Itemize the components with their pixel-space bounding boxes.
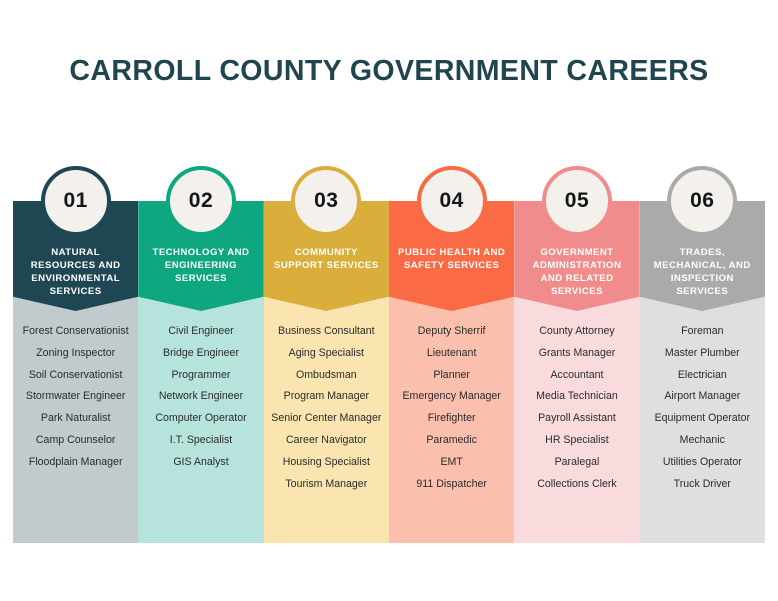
job-item: Electrician — [644, 365, 761, 387]
job-item: Senior Center Manager — [268, 408, 385, 430]
job-list-01: Forest ConservationistZoning InspectorSo… — [13, 321, 138, 474]
job-item: Planner — [393, 365, 510, 387]
step-number-05: 05 — [565, 189, 589, 213]
job-item: Master Plumber — [644, 343, 761, 365]
column-title-05: GOVERNMENT ADMINISTRATION AND RELATED SE… — [521, 246, 634, 298]
job-item: County Attorney — [518, 321, 635, 343]
job-item: Deputy Sherrif — [393, 321, 510, 343]
job-item: Firefighter — [393, 408, 510, 430]
job-item: Utilities Operator — [644, 452, 761, 474]
job-item: Tourism Manager — [268, 474, 385, 496]
job-item: Lieutenant — [393, 343, 510, 365]
step-number-03: 03 — [314, 189, 338, 213]
job-list-03: Business ConsultantAging SpecialistOmbud… — [264, 321, 389, 495]
job-item: 911 Dispatcher — [393, 474, 510, 496]
step-number-02: 02 — [189, 189, 213, 213]
job-item: Aging Specialist — [268, 343, 385, 365]
career-column-02: TECHNOLOGY AND ENGINEERING SERVICES02Civ… — [138, 201, 263, 543]
job-item: Housing Specialist — [268, 452, 385, 474]
job-item: Camp Counselor — [17, 430, 134, 452]
column-title-04: PUBLIC HEALTH AND SAFETY SERVICES — [395, 246, 508, 272]
job-item: I.T. Specialist — [142, 430, 259, 452]
career-column-04: PUBLIC HEALTH AND SAFETY SERVICES04Deput… — [389, 201, 514, 543]
job-list-06: ForemanMaster PlumberElectricianAirport … — [640, 321, 765, 495]
job-item: Paralegal — [518, 452, 635, 474]
job-item: Bridge Engineer — [142, 343, 259, 365]
job-item: Emergency Manager — [393, 386, 510, 408]
column-title-02: TECHNOLOGY AND ENGINEERING SERVICES — [145, 246, 258, 285]
step-badge-03: 03 — [291, 166, 361, 236]
job-item: Mechanic — [644, 430, 761, 452]
step-badge-04: 04 — [417, 166, 487, 236]
job-list-05: County AttorneyGrants ManagerAccountantM… — [514, 321, 639, 495]
job-item: Career Navigator — [268, 430, 385, 452]
job-item: Accountant — [518, 365, 635, 387]
job-item: Network Engineer — [142, 386, 259, 408]
step-number-01: 01 — [63, 189, 87, 213]
job-item: Computer Operator — [142, 408, 259, 430]
job-item: Programmer — [142, 365, 259, 387]
job-item: EMT — [393, 452, 510, 474]
job-item: Ombudsman — [268, 365, 385, 387]
career-column-01: NATURAL RESOURCES AND ENVIRONMENTAL SERV… — [13, 201, 138, 543]
job-item: Civil Engineer — [142, 321, 259, 343]
job-item: Media Technician — [518, 386, 635, 408]
job-item: Foreman — [644, 321, 761, 343]
column-title-03: COMMUNITY SUPPORT SERVICES — [270, 246, 383, 272]
job-item: Paramedic — [393, 430, 510, 452]
career-column-05: GOVERNMENT ADMINISTRATION AND RELATED SE… — [514, 201, 639, 543]
job-item: Truck Driver — [644, 474, 761, 496]
job-item: Soil Conservationist — [17, 365, 134, 387]
job-item: Airport Manager — [644, 386, 761, 408]
job-item: HR Specialist — [518, 430, 635, 452]
career-column-03: COMMUNITY SUPPORT SERVICES03Business Con… — [264, 201, 389, 543]
job-item: Business Consultant — [268, 321, 385, 343]
job-item: Payroll Assistant — [518, 408, 635, 430]
step-badge-06: 06 — [667, 166, 737, 236]
job-item: Zoning Inspector — [17, 343, 134, 365]
step-badge-05: 05 — [542, 166, 612, 236]
job-item: Collections Clerk — [518, 474, 635, 496]
career-column-06: TRADES, MECHANICAL, AND INSPECTION SERVI… — [640, 201, 765, 543]
job-item: Program Manager — [268, 386, 385, 408]
job-item: Forest Conservationist — [17, 321, 134, 343]
job-item: GIS Analyst — [142, 452, 259, 474]
job-item: Equipment Operator — [644, 408, 761, 430]
step-badge-02: 02 — [166, 166, 236, 236]
page-title: CARROLL COUNTY GOVERNMENT CAREERS — [0, 55, 778, 88]
job-list-02: Civil EngineerBridge EngineerProgrammerN… — [138, 321, 263, 474]
column-title-01: NATURAL RESOURCES AND ENVIRONMENTAL SERV… — [19, 246, 132, 298]
step-badge-01: 01 — [41, 166, 111, 236]
job-item: Park Naturalist — [17, 408, 134, 430]
column-title-06: TRADES, MECHANICAL, AND INSPECTION SERVI… — [646, 246, 759, 298]
job-item: Stormwater Engineer — [17, 386, 134, 408]
career-category-columns: NATURAL RESOURCES AND ENVIRONMENTAL SERV… — [13, 201, 765, 543]
step-number-04: 04 — [439, 189, 463, 213]
step-number-06: 06 — [690, 189, 714, 213]
job-item: Floodplain Manager — [17, 452, 134, 474]
job-item: Grants Manager — [518, 343, 635, 365]
job-list-04: Deputy SherrifLieutenantPlannerEmergency… — [389, 321, 514, 495]
